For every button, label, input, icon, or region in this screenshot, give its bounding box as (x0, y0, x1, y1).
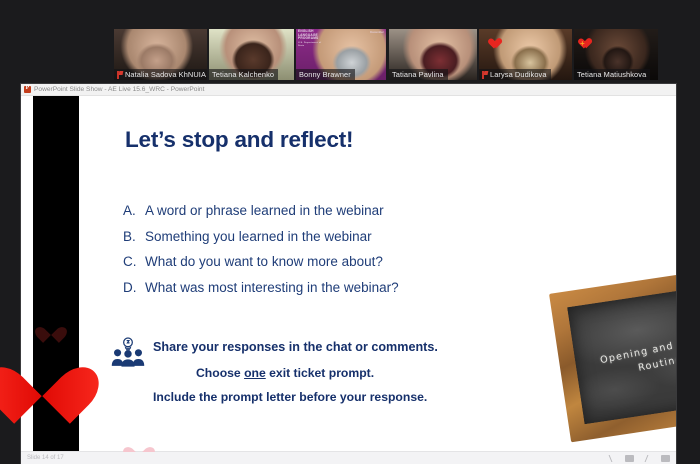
powerpoint-icon (24, 86, 31, 93)
slide-counter: Slide 14 of 17 (27, 455, 64, 461)
reaction-plus-icon: + (580, 40, 585, 48)
callout-line-3: Include the prompt letter before your re… (153, 390, 427, 404)
list-item-text: Something you learned in the webinar (145, 229, 372, 244)
video-filmstrip: Natalia Sadova KhNUIA Tetiana Kalchenko … (0, 0, 700, 84)
participant-tile[interactable]: Natalia Sadova KhNUIA (114, 29, 207, 80)
participant-namebar: Natalia Sadova KhNUIA (114, 69, 207, 80)
participant-namebar: Tetiana Matiushkova (574, 69, 650, 80)
logo-line-3: PROGRAMS (298, 37, 325, 41)
list-item-text: A word or phrase learned in the webinar (145, 203, 384, 218)
list-item-letter: D. (123, 280, 145, 295)
slide-prompt-list: A. A word or phrase learned in the webin… (123, 203, 523, 305)
callout-line-2-c: exit ticket prompt. (266, 366, 374, 380)
participant-tile[interactable]: Tetiana Kalchenko (209, 29, 294, 80)
reaction-heart-dark (40, 320, 62, 339)
participant-name: Tetiana Kalchenko (212, 70, 274, 79)
callout-line-2-a: Choose (196, 366, 244, 380)
callout-line-1: Share your responses in the chat or comm… (153, 340, 438, 354)
flag-icon (482, 71, 488, 79)
list-item: B. Something you learned in the webinar (123, 229, 523, 244)
list-item: A. A word or phrase learned in the webin… (123, 203, 523, 218)
powerpoint-window: PowerPoint Slide Show - AE Live 15.6_WRC… (21, 84, 676, 464)
people-lightbulb-icon (111, 337, 145, 367)
program-logo-overlay: ENGLISH LANGUAGE PROGRAMS U.S. Departmen… (298, 30, 325, 49)
powerpoint-titlebar[interactable]: PowerPoint Slide Show - AE Live 15.6_WRC… (21, 84, 676, 96)
display-icon[interactable] (661, 455, 670, 462)
callout-line-2: Choose one exit ticket prompt. (196, 366, 374, 380)
participant-namebar: Tatiana Pavlina (389, 69, 448, 80)
participant-name: Natalia Sadova KhNUIA (125, 70, 206, 79)
pointer-icon[interactable] (643, 455, 652, 462)
chalkboard-photo: Opening and Closing Routines (549, 264, 676, 443)
list-item-letter: A. (123, 203, 145, 218)
reaction-heart-large (3, 342, 81, 410)
list-item: C. What do you want to know more about? (123, 254, 523, 269)
participant-name: Tatiana Pavlina (392, 70, 444, 79)
participant-tile-active-speaker[interactable]: ENGLISH LANGUAGE PROGRAMS U.S. Departmen… (296, 29, 386, 80)
list-item: D. What was most interesting in the webi… (123, 280, 523, 295)
participant-name: Larysa Dudikova (490, 70, 547, 79)
list-item-text: What do you want to know more about? (145, 254, 383, 269)
corner-caption: December (370, 30, 384, 34)
slide-canvas[interactable]: Let’s stop and reflect! A. A word or phr… (79, 96, 676, 452)
slide-icon[interactable] (625, 455, 634, 462)
list-item-letter: B. (123, 229, 145, 244)
chalkboard-text: Opening and Closing Routines (574, 324, 676, 388)
callout-line-2-emphasis: one (244, 366, 266, 380)
reaction-heart-pale (128, 440, 150, 452)
participant-namebar: Larysa Dudikova (479, 69, 551, 80)
slide-title: Let’s stop and reflect! (125, 127, 353, 153)
reaction-heart-icon (486, 33, 499, 45)
participant-tile[interactable]: Tatiana Pavlina (389, 29, 477, 80)
window-title: PowerPoint Slide Show - AE Live 15.6_WRC… (34, 86, 204, 93)
logo-line-4: U.S. Department of State (298, 42, 325, 49)
participant-name: Bonny Brawner (299, 70, 351, 79)
flag-icon (117, 71, 123, 79)
participant-namebar: Bonny Brawner (296, 69, 355, 80)
participant-name: Tetiana Matiushkova (577, 70, 646, 79)
participant-namebar: Tetiana Kalchenko (209, 69, 278, 80)
pen-icon[interactable] (607, 455, 616, 462)
list-item-text: What was most interesting in the webinar… (145, 280, 399, 295)
list-item-letter: C. (123, 254, 145, 269)
powerpoint-statusbar: Slide 14 of 17 (21, 451, 676, 464)
